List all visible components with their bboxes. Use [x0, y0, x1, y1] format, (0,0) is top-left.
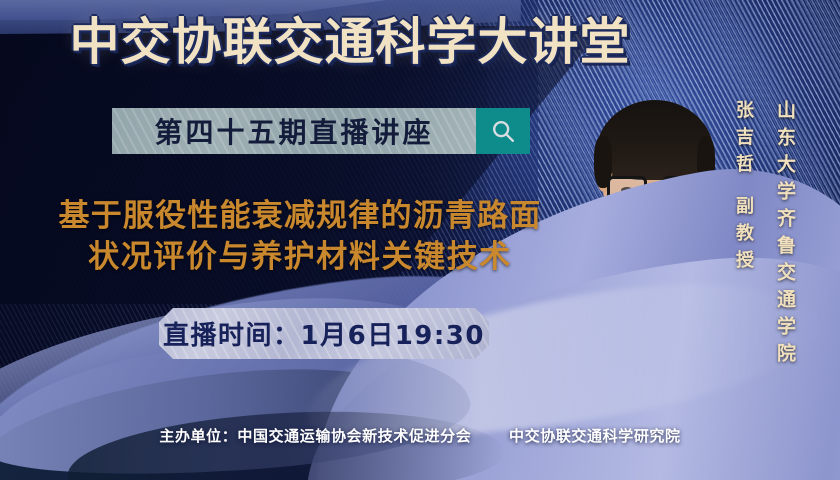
- search-button[interactable]: [476, 108, 530, 154]
- speaker-name: 张吉哲 副教授: [730, 100, 756, 277]
- broadcast-time-badge: 直播时间：1月6日19:30: [159, 308, 489, 359]
- episode-bar[interactable]: 第四十五期直播讲座: [112, 108, 530, 154]
- episode-label: 第四十五期直播讲座: [154, 111, 433, 151]
- footer-organizer: 主办单位：中国交通运输协会新技术促进分会: [159, 427, 471, 445]
- speaker-organization: 山东大学齐鲁交通学院: [772, 100, 799, 370]
- episode-label-container: 第四十五期直播讲座: [112, 108, 476, 154]
- page-title: 中交协联交通科学大讲堂: [0, 16, 700, 69]
- lecture-title: 基于服役性能衰减规律的沥青路面 状况评价与养护材料关键技术: [22, 196, 578, 278]
- footer-institute: 中交协联交通科学研究院: [509, 427, 681, 445]
- search-icon: [490, 118, 516, 144]
- broadcast-time-text: 直播时间：1月6日19:30: [163, 315, 485, 352]
- lecture-title-line-2: 状况评价与养护材料关键技术: [22, 237, 578, 278]
- live-lecture-poster: 中交协联交通科学大讲堂 第四十五期直播讲座 基于服役性能衰减规律的沥青路面 状况…: [0, 0, 840, 480]
- footer: 主办单位：中国交通运输协会新技术促进分会 中交协联交通科学研究院: [0, 425, 840, 446]
- lecture-title-line-1: 基于服役性能衰减规律的沥青路面: [22, 196, 578, 237]
